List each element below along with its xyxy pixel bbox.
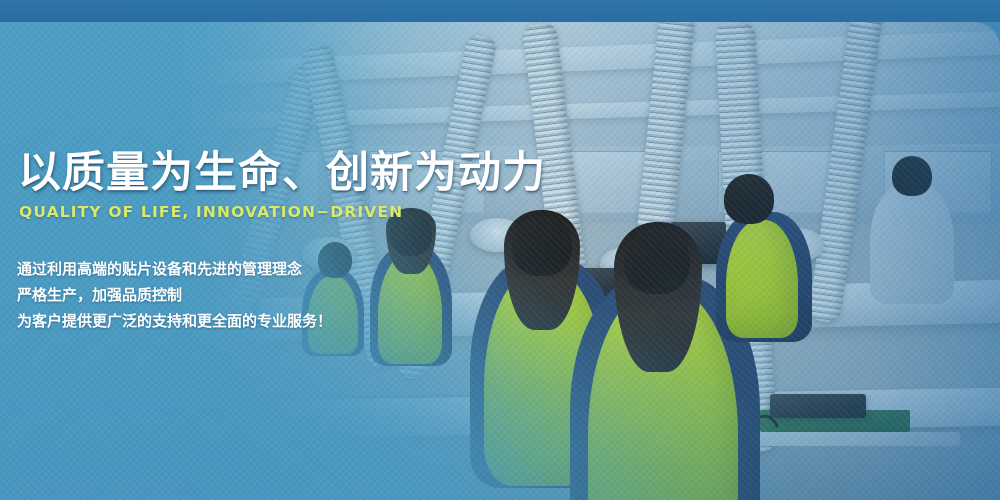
- banner-body-text: 通过利用高端的贴片设备和先进的管理理念 严格生产，加强品质控制 为客户提供更广泛…: [17, 256, 332, 334]
- top-accent-band: [0, 0, 1000, 22]
- promo-banner: 以质量为生命、创新为动力 QUALITY OF LIFE, INNOVATION…: [0, 0, 1000, 500]
- body-line: 为客户提供更广泛的支持和更全面的专业服务！: [17, 308, 332, 334]
- banner-subtitle: QUALITY OF LIFE, INNOVATION−DRIVEN: [19, 203, 403, 221]
- body-line: 严格生产，加强品质控制: [17, 282, 332, 308]
- body-line: 通过利用高端的贴片设备和先进的管理理念: [17, 256, 332, 282]
- background-right-tint: [0, 0, 1000, 500]
- banner-headline: 以质量为生命、创新为动力: [18, 152, 546, 195]
